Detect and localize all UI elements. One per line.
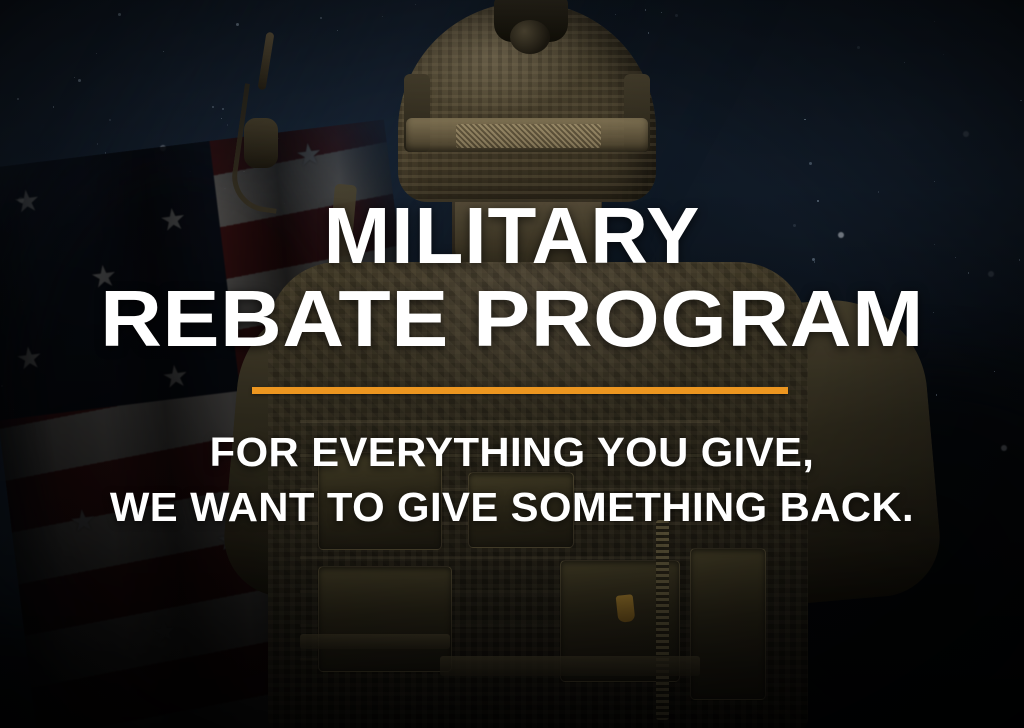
vest-pouch — [690, 548, 766, 700]
vest-pouch — [468, 472, 574, 548]
vest-zipper — [656, 520, 669, 720]
comms-antenna — [258, 32, 275, 91]
vest-pouch — [318, 566, 452, 672]
soldier-figure — [0, 0, 1024, 728]
yellow-pull-tab — [616, 594, 636, 623]
vest-strap — [440, 656, 700, 676]
vest-pouch — [318, 452, 442, 550]
headset-earcup — [244, 118, 278, 168]
helmet-velcro-patch — [456, 124, 601, 148]
military-rebate-banner: ★★★★★★★★★★★★ — [0, 0, 1024, 728]
vest-strap — [300, 634, 450, 649]
nvg-knob — [510, 20, 550, 54]
combat-helmet — [398, 2, 656, 202]
